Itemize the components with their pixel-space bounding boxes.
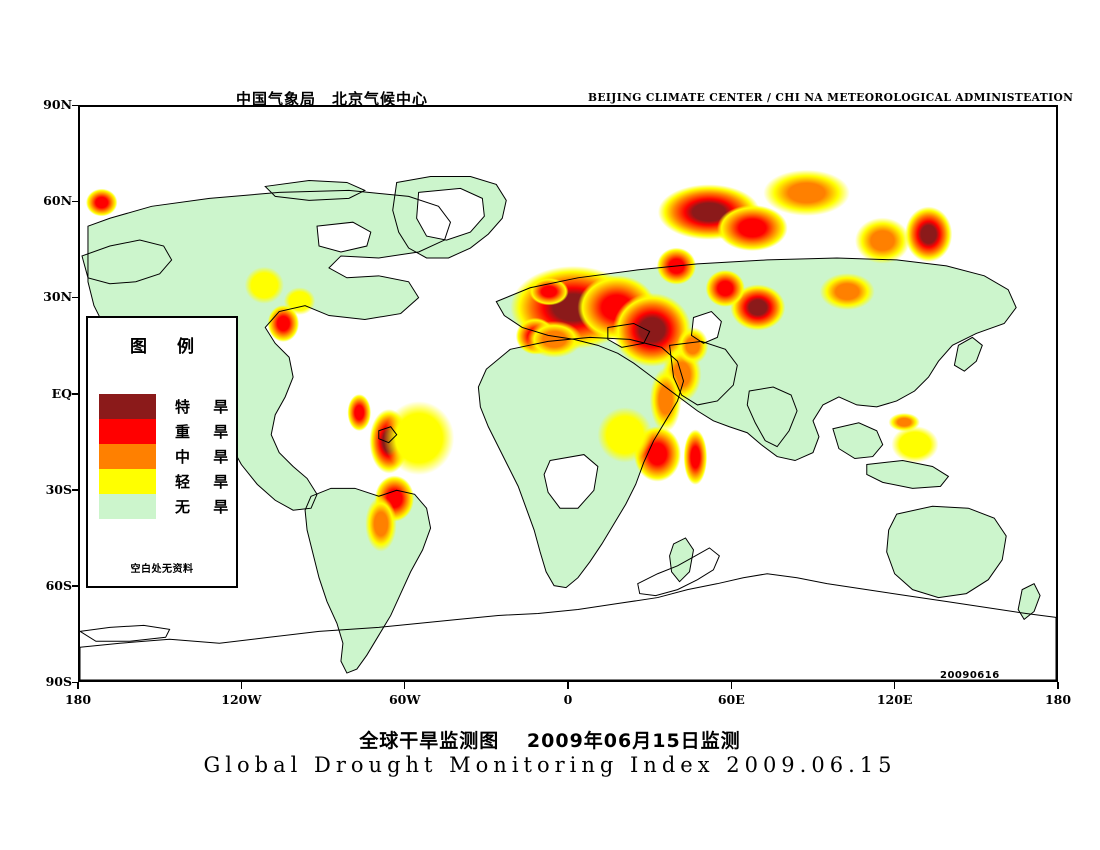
x-axis-tick-180 — [77, 682, 79, 689]
title-english: Global Drought Monitoring Index 2009.06.… — [0, 753, 1100, 777]
x-axis-label-180: 180 — [48, 692, 108, 707]
drought-region-central-china — [820, 273, 875, 310]
y-axis-tick-30N — [72, 297, 79, 299]
legend-swatch-extreme — [99, 394, 156, 419]
drought-region-us-texas — [284, 287, 315, 315]
legend-swatch-severe — [99, 419, 156, 444]
x-axis-tick-180 — [1057, 682, 1059, 689]
drought-region-russian-far-east — [905, 207, 952, 262]
drought-region-east-africa-rift — [650, 368, 681, 433]
x-axis-label-120W: 120W — [211, 692, 271, 707]
y-axis-label-60S: 60S — [26, 578, 72, 593]
y-axis-label-90S: 90S — [26, 674, 72, 689]
drought-region-peru-north — [348, 394, 372, 431]
legend-label-severe: 重 旱 — [175, 421, 237, 442]
drought-map-page: 中国气象局 北京气候中心 BEIJING CLIMATE CENTER / CH… — [0, 0, 1100, 850]
x-axis-tick-120E — [894, 682, 896, 689]
x-axis-tick-60E — [731, 682, 733, 689]
drought-region-australia-north — [891, 426, 938, 463]
x-axis-label-180: 180 — [1028, 692, 1088, 707]
y-axis-tick-EQ — [72, 393, 79, 395]
y-axis-tick-90N — [72, 105, 79, 107]
title-chinese: 全球干旱监测图 2009年06月15日监测 — [0, 726, 1100, 753]
legend-label-moderate: 中 旱 — [175, 446, 237, 467]
y-axis-label-EQ: EQ — [26, 386, 72, 401]
legend-box: 图 例 特 旱重 旱中 旱轻 旱无 旱 空白处无资料 — [86, 316, 238, 588]
legend-label-light: 轻 旱 — [175, 471, 237, 492]
drought-region-arabian-yemen — [677, 327, 708, 364]
legend-swatch-none — [99, 494, 156, 519]
legend-item-extreme: 特 旱 — [99, 394, 237, 419]
y-axis-tick-30S — [72, 489, 79, 491]
y-axis-tick-60N — [72, 201, 79, 203]
legend-item-light: 轻 旱 — [99, 469, 237, 494]
y-axis-tick-60S — [72, 585, 79, 587]
legend-item-moderate: 中 旱 — [99, 444, 237, 469]
drought-region-alaska-aleutian — [86, 189, 117, 217]
drought-region-us-southwest — [245, 267, 284, 304]
drought-region-madagascar — [684, 429, 708, 484]
x-axis-tick-120W — [241, 682, 243, 689]
legend-item-severe: 重 旱 — [99, 419, 237, 444]
drought-region-morocco-atlas — [529, 278, 568, 306]
legend-title: 图 例 — [88, 332, 236, 357]
x-axis-label-0: 0 — [538, 692, 598, 707]
y-axis-label-30S: 30S — [26, 482, 72, 497]
legend-label-none: 无 旱 — [175, 496, 237, 517]
x-axis-label-60E: 60E — [701, 692, 761, 707]
drought-region-west-siberia — [763, 170, 849, 216]
legend-label-extreme: 特 旱 — [175, 396, 237, 417]
x-axis-tick-60W — [404, 682, 406, 689]
date-stamp: 20090616 — [940, 670, 1000, 681]
drought-region-kazakhstan — [717, 205, 788, 251]
drought-region-angola-zambia — [597, 407, 652, 462]
x-axis-tick-0 — [567, 682, 569, 689]
x-axis-label-60W: 60W — [375, 692, 435, 707]
legend-item-none: 无 旱 — [99, 494, 237, 519]
y-axis-label-30N: 30N — [26, 289, 72, 304]
drought-region-mongolia-china-ne — [855, 218, 910, 264]
drought-region-patagonia-north — [365, 496, 396, 551]
legend-rows: 特 旱重 旱中 旱轻 旱无 旱 — [99, 394, 237, 519]
legend-note: 空白处无资料 — [88, 560, 236, 575]
drought-region-iran-plateau — [706, 270, 745, 307]
y-axis-label-90N: 90N — [26, 97, 72, 112]
x-axis-label-120E: 120E — [865, 692, 925, 707]
header-agency-english: BEIJING CLIMATE CENTER / CHI NA METEOROL… — [588, 91, 1073, 104]
legend-swatch-light — [99, 469, 156, 494]
drought-region-indonesia-timor — [888, 413, 919, 431]
legend-swatch-moderate — [99, 444, 156, 469]
drought-region-brazil-central — [384, 401, 455, 475]
y-axis-label-60N: 60N — [26, 193, 72, 208]
